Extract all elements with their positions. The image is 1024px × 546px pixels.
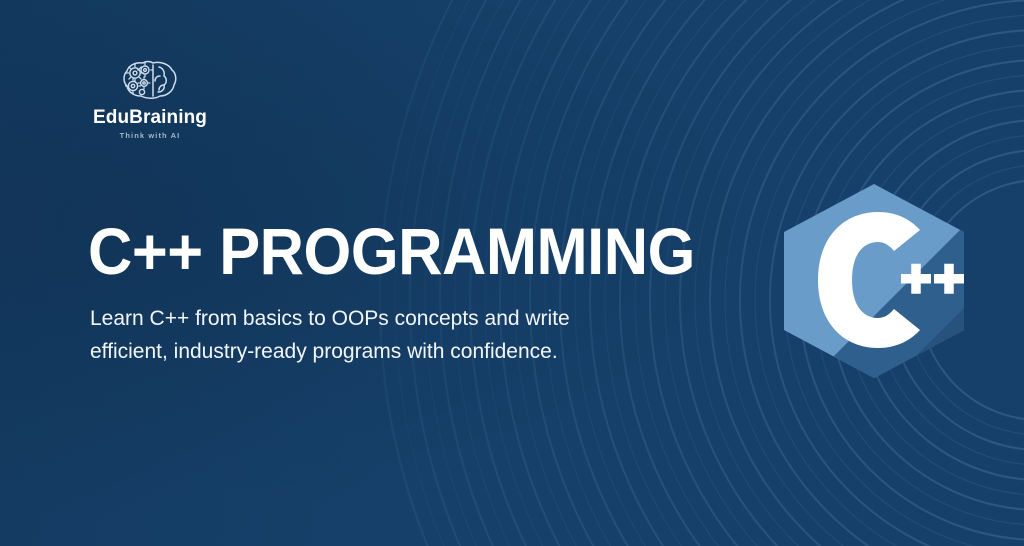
logo-tagline: Think with AI	[80, 131, 220, 140]
brand-logo[interactable]: EduBraining Think with AI	[80, 58, 220, 140]
logo-wordmark: EduBraining	[80, 108, 220, 128]
hero-copy: C++ PROGRAMMING Learn C++ from basics to…	[88, 218, 648, 368]
cpp-programming-banner: EduBraining Think with AI C++ PROGRAMMIN…	[0, 0, 1024, 546]
brain-gears-icon	[80, 58, 220, 104]
hero-subtitle: Learn C++ from basics to OOPs concepts a…	[90, 302, 620, 368]
cpp-hexagon-logo	[774, 182, 974, 380]
page-title: C++ PROGRAMMING	[88, 218, 609, 284]
